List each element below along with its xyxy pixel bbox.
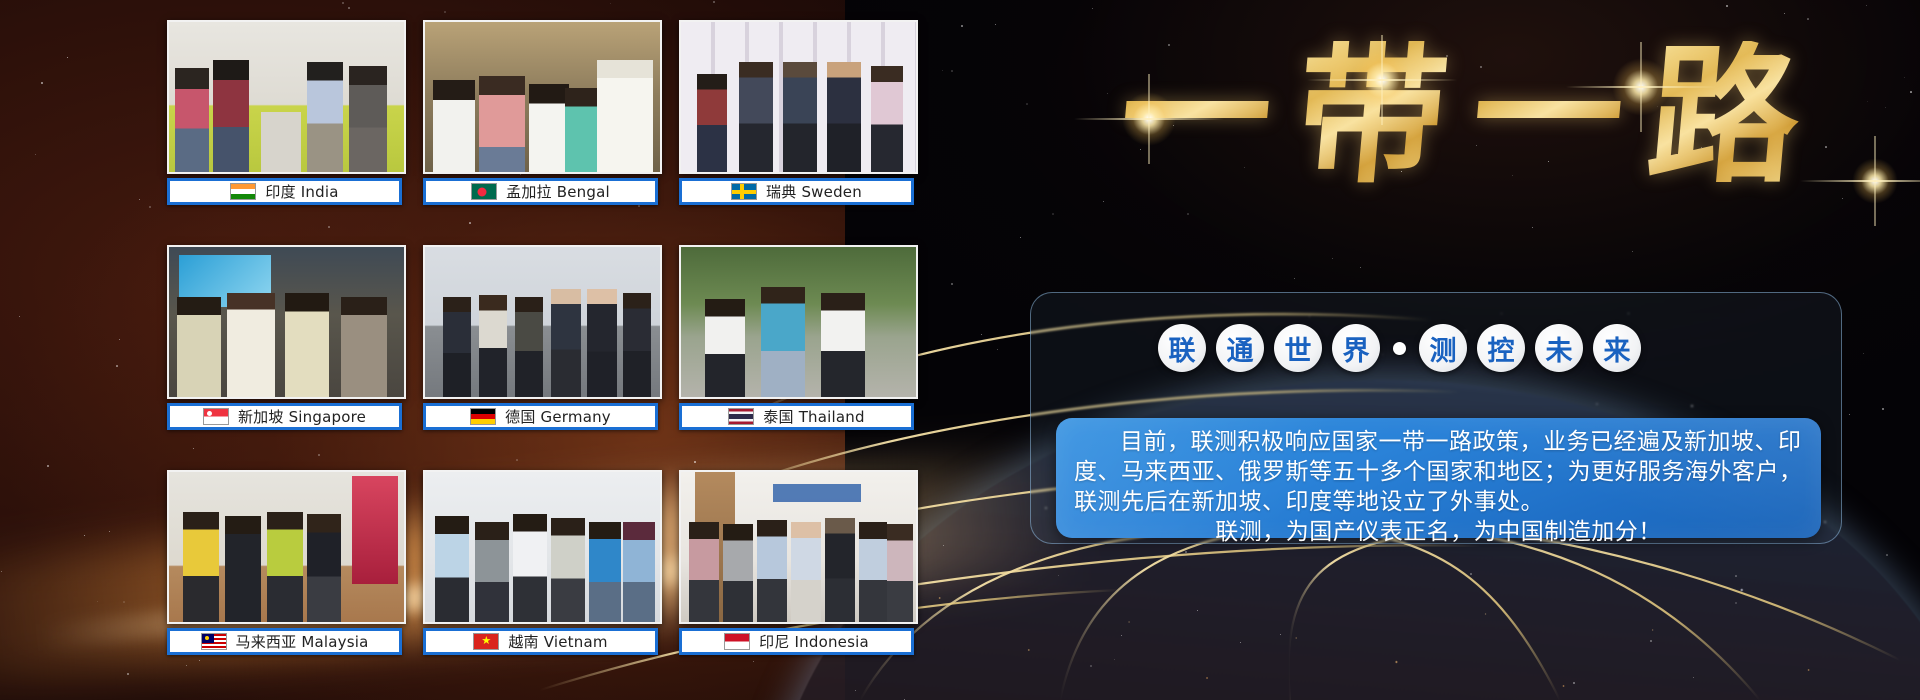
country-card[interactable]: 印尼Indonesia — [679, 470, 914, 660]
caption-india: 印度India — [167, 178, 402, 205]
country-card[interactable]: 瑞典Sweden — [679, 20, 914, 210]
caption-text: 印尼Indonesia — [759, 631, 869, 652]
flag-sweden-icon — [731, 183, 757, 200]
flag-singapore-icon — [203, 408, 229, 425]
calligraphy-char-1: 一 — [1114, 41, 1277, 191]
flag-indonesia-icon — [724, 633, 750, 650]
team-photo-thailand — [679, 245, 918, 399]
caption-bengal: 孟加拉Bengal — [423, 178, 658, 205]
caption-text: 泰国Thailand — [763, 406, 864, 427]
caption-germany: 德国Germany — [423, 403, 658, 430]
country-card[interactable]: 新加坡Singapore — [167, 245, 402, 435]
team-photo-india — [167, 20, 406, 174]
team-photo-indonesia — [679, 470, 918, 624]
slogan-char-badge: 世 — [1274, 324, 1322, 372]
caption-text: 德国Germany — [505, 406, 611, 427]
team-photo-sweden — [679, 20, 918, 174]
country-card[interactable]: 印度India — [167, 20, 402, 210]
calligraphy-char-2: 带 — [1290, 41, 1453, 191]
flag-malaysia-icon — [201, 633, 227, 650]
team-photo-malaysia — [167, 470, 406, 624]
flag-vietnam-icon: ★ — [473, 633, 499, 650]
slogan-char-badge: 联 — [1158, 324, 1206, 372]
caption-sweden: 瑞典Sweden — [679, 178, 914, 205]
team-photo-germany — [423, 245, 662, 399]
team-photo-vietnam — [423, 470, 662, 624]
flag-india-icon — [230, 183, 256, 200]
slogan-char-badge: 通 — [1216, 324, 1264, 372]
team-photo-bengal — [423, 20, 662, 174]
country-card[interactable]: 德国Germany — [423, 245, 658, 435]
description-paragraph-1: 目前，联测积极响应国家一带一路政策，业务已经遍及新加坡、印度、马来西亚、俄罗斯等… — [1074, 428, 1803, 518]
country-card[interactable]: ★ 越南Vietnam — [423, 470, 658, 660]
headline-calligraphy: 一 带 一 路 — [1020, 8, 1900, 223]
caption-thailand: 泰国Thailand — [679, 403, 914, 430]
country-card[interactable]: 泰国Thailand — [679, 245, 914, 435]
caption-indonesia: 印尼Indonesia — [679, 628, 914, 655]
caption-text: 马来西亚Malaysia — [236, 631, 369, 652]
country-card[interactable]: 孟加拉Bengal — [423, 20, 658, 210]
slogan-badges: 联 通 世 界 测 控 未 来 — [1158, 324, 1641, 372]
flag-thailand-icon — [728, 408, 754, 425]
slogan-char-badge: 未 — [1535, 324, 1583, 372]
calligraphy-char-3: 一 — [1466, 41, 1629, 191]
caption-text: 孟加拉Bengal — [506, 181, 610, 202]
slogan-separator-dot-icon — [1393, 342, 1406, 355]
team-photo-singapore — [167, 245, 406, 399]
country-photo-grid: 印度India 孟加拉Bengal — [167, 20, 914, 660]
calligraphy-char-4: 路 — [1642, 41, 1805, 191]
slogan-char-badge: 来 — [1593, 324, 1641, 372]
country-card[interactable]: 马来西亚Malaysia — [167, 470, 402, 660]
caption-text: 新加坡Singapore — [238, 406, 366, 427]
caption-malaysia: 马来西亚Malaysia — [167, 628, 402, 655]
caption-text: 印度India — [265, 181, 338, 202]
caption-text: 瑞典Sweden — [766, 181, 862, 202]
flag-bangladesh-icon — [471, 183, 497, 200]
caption-text: 越南Vietnam — [508, 631, 607, 652]
slogan-char-badge: 测 — [1419, 324, 1467, 372]
description-box: 目前，联测积极响应国家一带一路政策，业务已经遍及新加坡、印度、马来西亚、俄罗斯等… — [1056, 418, 1821, 538]
slogan-char-badge: 控 — [1477, 324, 1525, 372]
caption-singapore: 新加坡Singapore — [167, 403, 402, 430]
description-paragraph-2: 联测，为国产仪表正名，为中国制造加分！ — [1074, 518, 1803, 548]
caption-vietnam: ★ 越南Vietnam — [423, 628, 658, 655]
slogan-char-badge: 界 — [1332, 324, 1380, 372]
banner-stage: 印度India 孟加拉Bengal — [0, 0, 1920, 700]
flag-germany-icon — [470, 408, 496, 425]
